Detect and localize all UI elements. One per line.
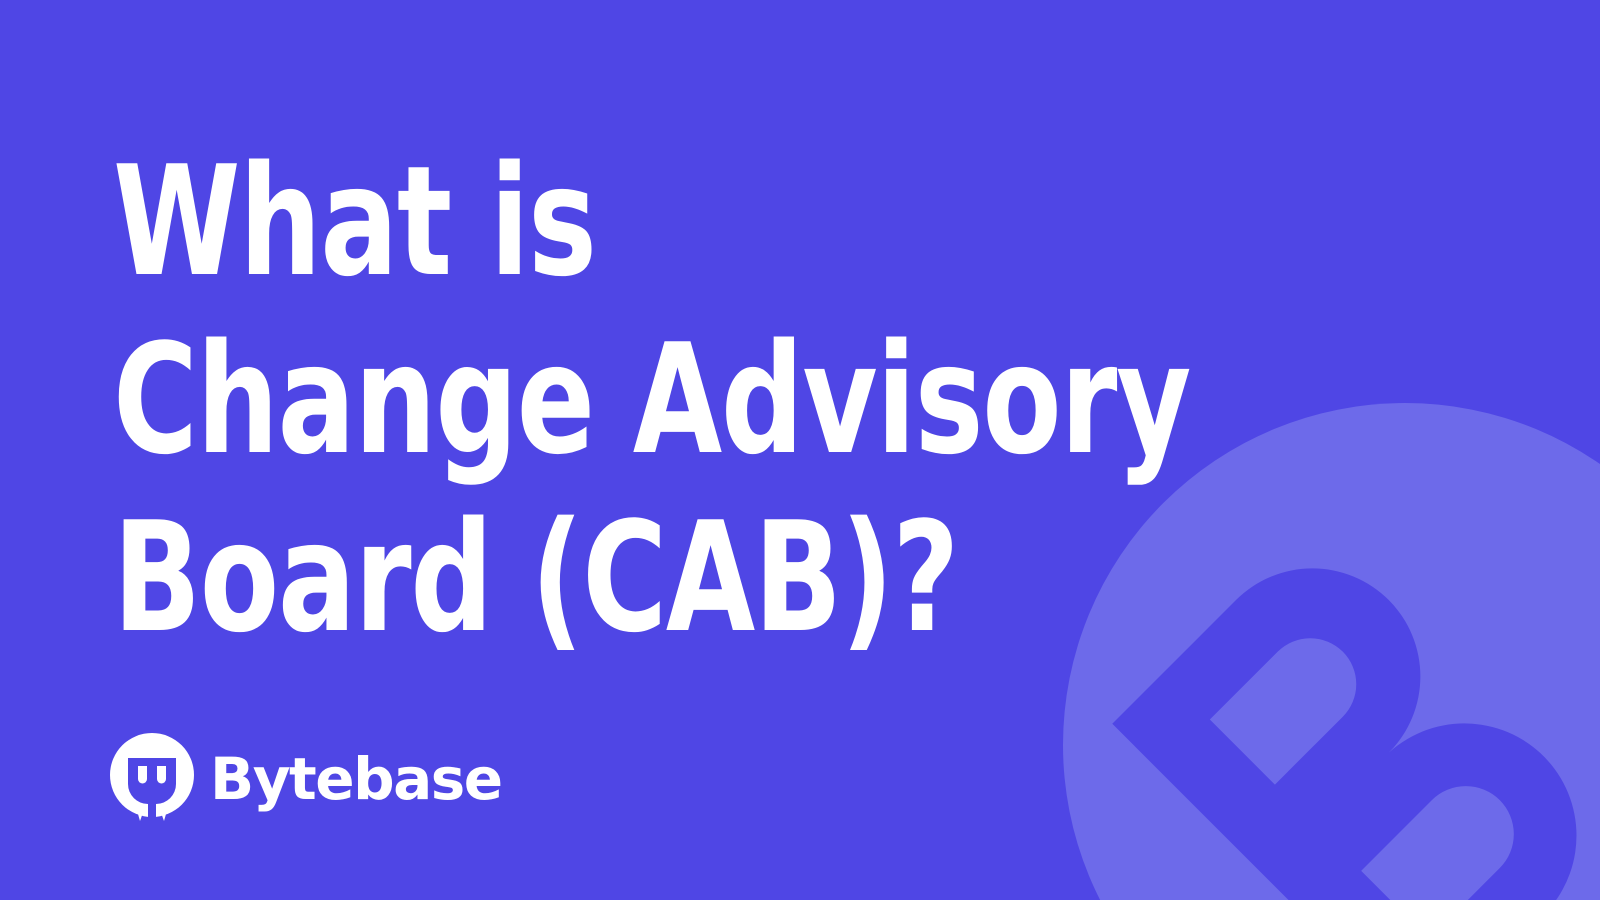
bytebase-logo-icon [110,733,194,821]
page-title: What is Change Advisory Board (CAB)? [113,133,1113,667]
headline-line-1: What is [113,133,958,311]
bytebase-wordmark: Bytebase [210,749,502,809]
poster-canvas: What is Change Advisory Board (CAB)? Byt… [0,0,1600,900]
brand-logo-lockup: Bytebase [110,733,502,821]
headline-line-2: Change Advisory [113,311,958,489]
headline-line-3: Board (CAB)? [113,489,958,667]
